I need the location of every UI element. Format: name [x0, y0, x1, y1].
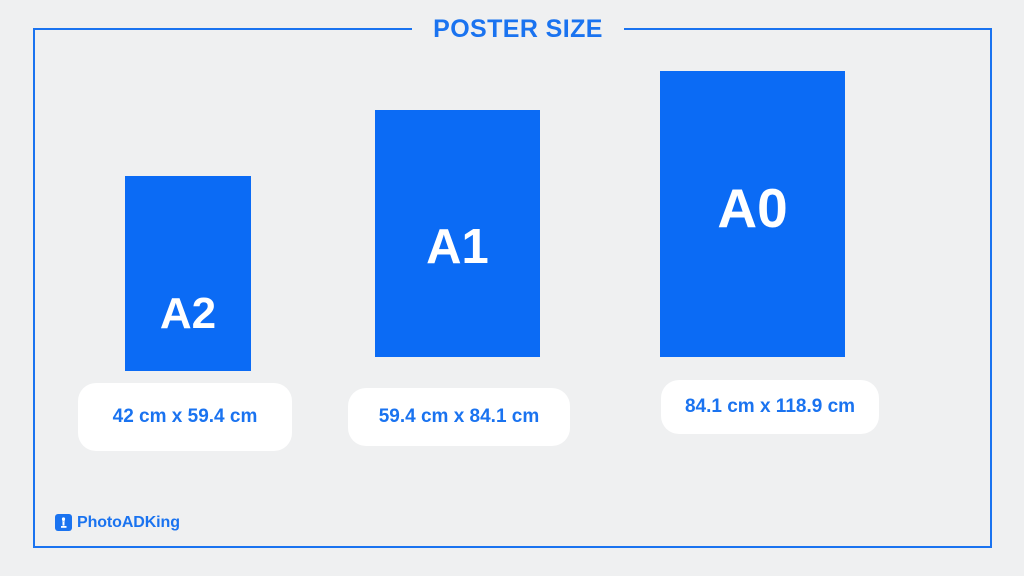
poster-rect-label-a0: A0 [717, 181, 787, 236]
poster-dimensions-a2: 42 cm x 59.4 cm [78, 383, 292, 451]
watermark-text: PhotoADKing [77, 514, 180, 531]
poster-dimensions-a0: 84.1 cm x 118.9 cm [661, 380, 879, 434]
poster-rect-a1: A1 [375, 110, 540, 357]
poster-rect-a0: A0 [660, 71, 845, 357]
photoadking-logo-icon [55, 514, 72, 531]
infographic-canvas: POSTER SIZE A2 42 cm x 59.4 cm A1 59.4 c… [0, 0, 1024, 576]
watermark: PhotoADKing [55, 514, 180, 531]
poster-dimensions-a1: 59.4 cm x 84.1 cm [348, 388, 570, 446]
poster-rect-label-a1: A1 [426, 223, 489, 272]
poster-rect-a2: A2 [125, 176, 251, 371]
poster-rect-label-a2: A2 [160, 292, 216, 336]
page-title: POSTER SIZE [418, 16, 618, 42]
